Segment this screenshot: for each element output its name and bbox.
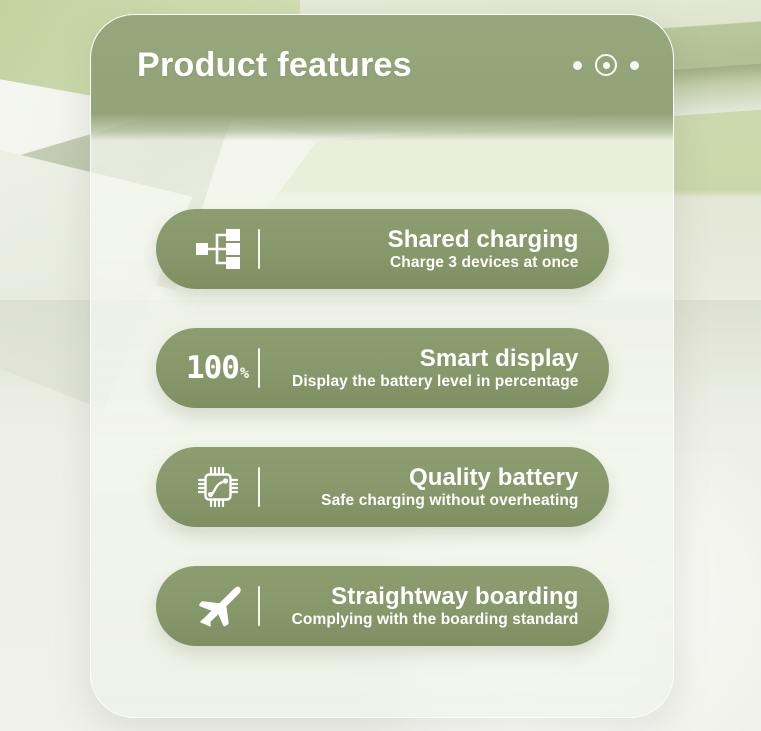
feature-list: Shared charging Charge 3 devices at once… [91, 209, 673, 646]
feature-subtitle: Safe charging without overheating [270, 493, 579, 510]
pill-divider [258, 229, 260, 269]
feature-title: Quality battery [270, 465, 579, 491]
card-header: Product features [91, 15, 673, 141]
page-dot-1[interactable] [573, 61, 582, 70]
pill-divider [258, 467, 260, 507]
page-indicator-dots[interactable] [573, 54, 639, 76]
feature-text: Smart display Display the battery level … [270, 346, 585, 391]
feature-title: Smart display [270, 346, 579, 372]
lcd-value: 100 [186, 350, 239, 386]
page-dot-2-active[interactable] [595, 54, 617, 76]
feature-title: Straightway boarding [270, 584, 579, 610]
feature-title: Shared charging [270, 227, 579, 253]
feature-text: Quality battery Safe charging without ov… [270, 465, 585, 510]
feature-text: Shared charging Charge 3 devices at once [270, 227, 585, 272]
feature-text: Straightway boarding Complying with the … [270, 584, 585, 629]
features-card: Product features [90, 14, 674, 718]
product-features-screen: Product features [0, 0, 761, 731]
feature-subtitle: Display the battery level in percentage [270, 374, 579, 391]
feature-row-smart-display[interactable]: 100 % Smart display Display the battery … [156, 328, 609, 408]
feature-subtitle: Charge 3 devices at once [270, 255, 579, 272]
lcd-unit: % [240, 364, 249, 382]
pill-divider [258, 348, 260, 388]
cpu-chip-icon [190, 464, 246, 510]
airplane-takeoff-icon [190, 584, 246, 628]
pill-divider [258, 586, 260, 626]
feature-subtitle: Complying with the boarding standard [270, 612, 579, 629]
feature-row-straightway-boarding[interactable]: Straightway boarding Complying with the … [156, 566, 609, 646]
page-dot-3[interactable] [630, 61, 639, 70]
feature-row-shared-charging[interactable]: Shared charging Charge 3 devices at once [156, 209, 609, 289]
share-network-icon [190, 228, 246, 270]
battery-percent-icon: 100 % [190, 350, 246, 386]
feature-row-quality-battery[interactable]: Quality battery Safe charging without ov… [156, 447, 609, 527]
page-title: Product features [137, 46, 573, 85]
